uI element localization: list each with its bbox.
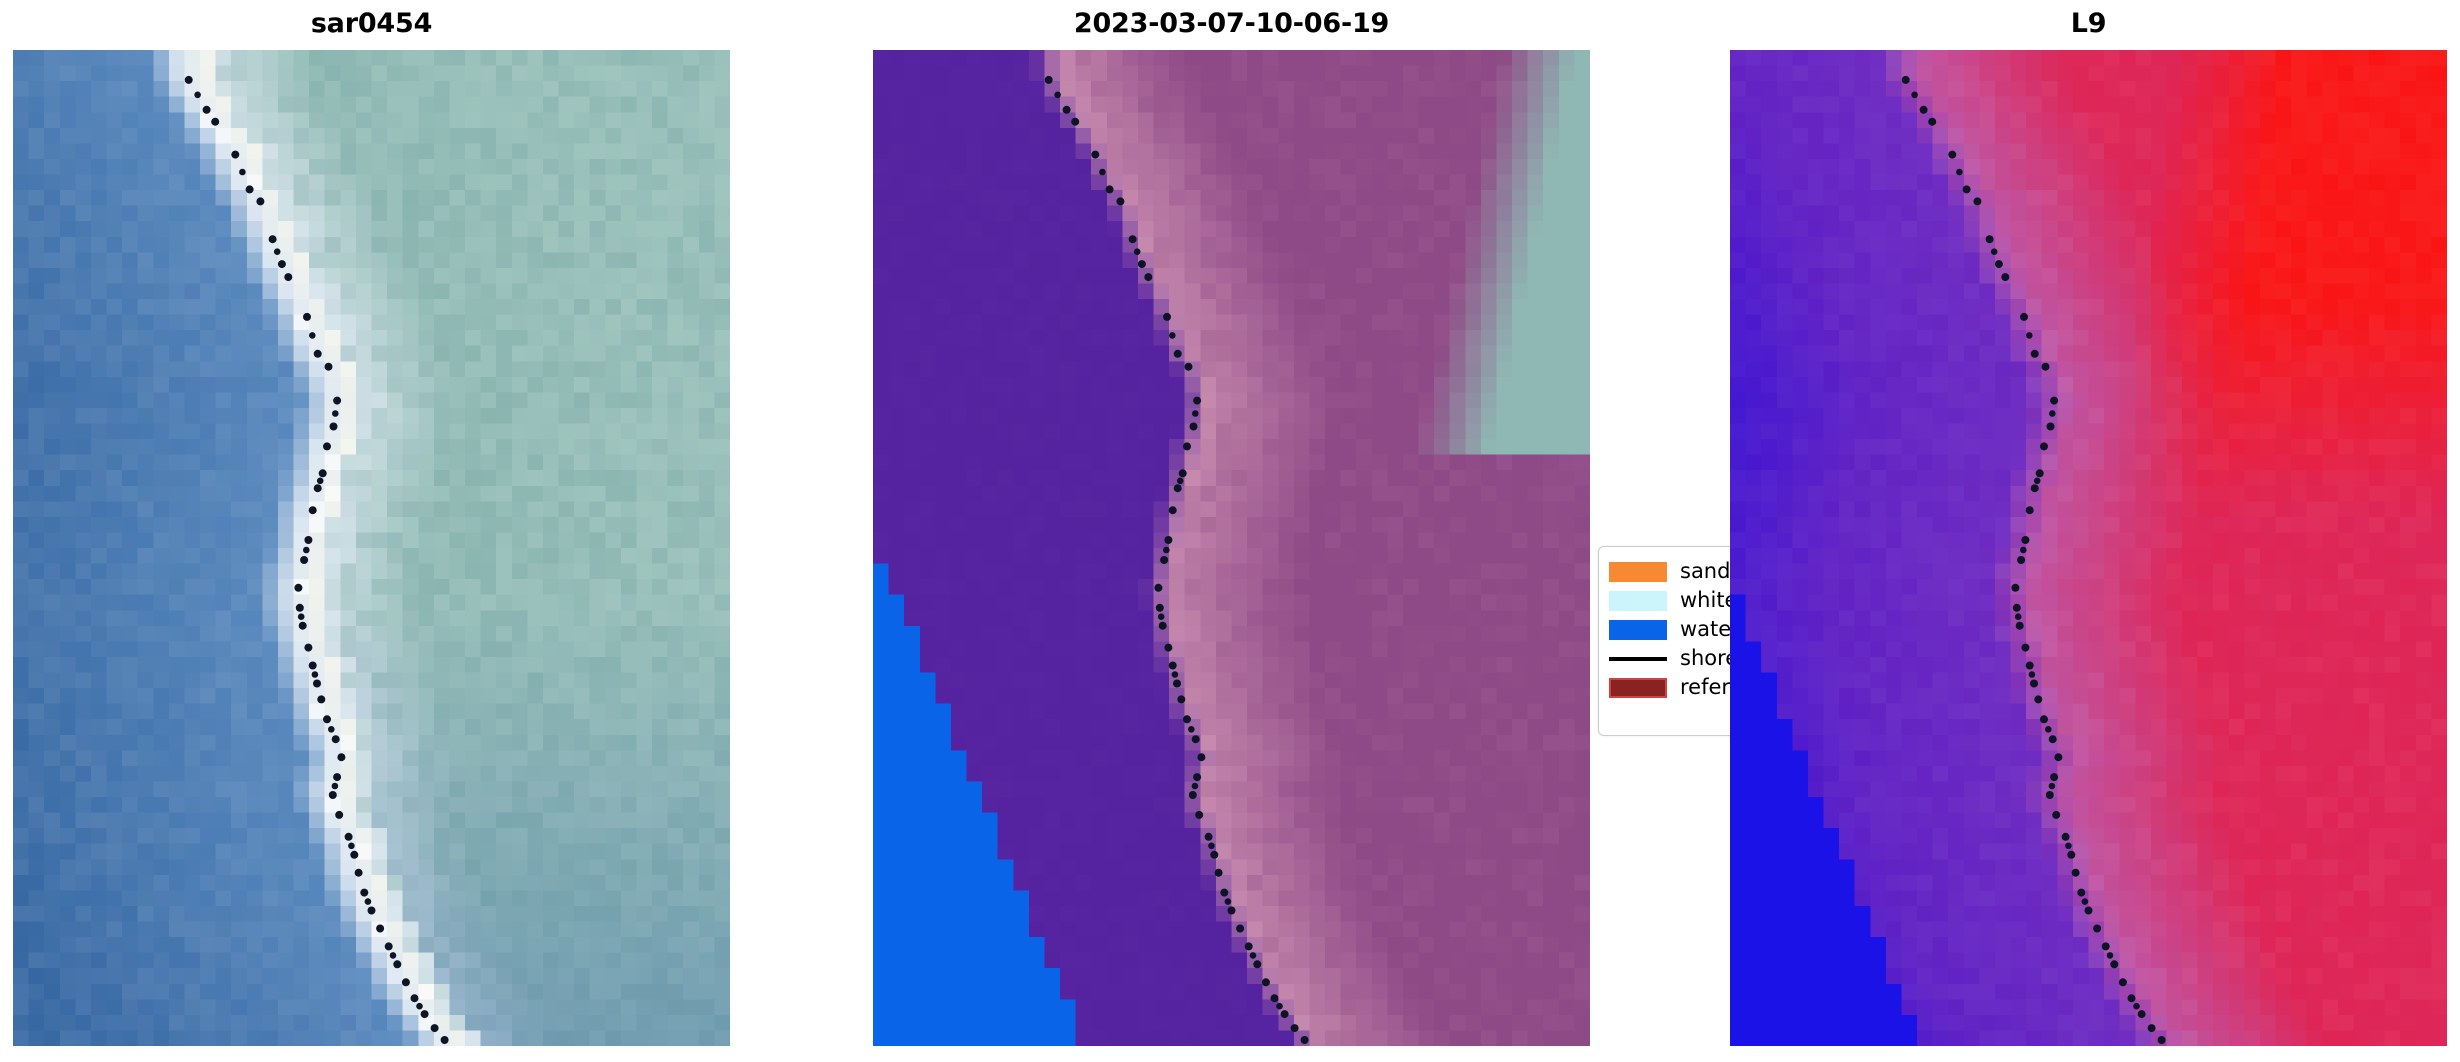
water-swatch (1609, 619, 1667, 641)
reference-shoreline-swatch (1609, 677, 1667, 699)
figure-root: sar0454 2023-03-07-10-06-19 sand whitewa… (0, 0, 2460, 1062)
sar-image-canvas (13, 50, 730, 1046)
classified-image-canvas (873, 50, 1590, 1046)
panel-title-classified: 2023-03-07-10-06-19 (873, 8, 1590, 39)
image-panel-classified[interactable] (873, 50, 1590, 1046)
sand-swatch (1609, 561, 1667, 583)
panel-title-sar: sar0454 (13, 8, 730, 39)
image-panel-sar[interactable] (13, 50, 730, 1046)
shoreline-line-swatch (1609, 648, 1667, 670)
legend-label-sand: sand (1680, 561, 1730, 582)
whitewater-swatch (1609, 590, 1667, 612)
l9-image-canvas (1730, 50, 2447, 1046)
image-panel-l9[interactable] (1730, 50, 2447, 1046)
panel-title-l9: L9 (1730, 8, 2447, 39)
